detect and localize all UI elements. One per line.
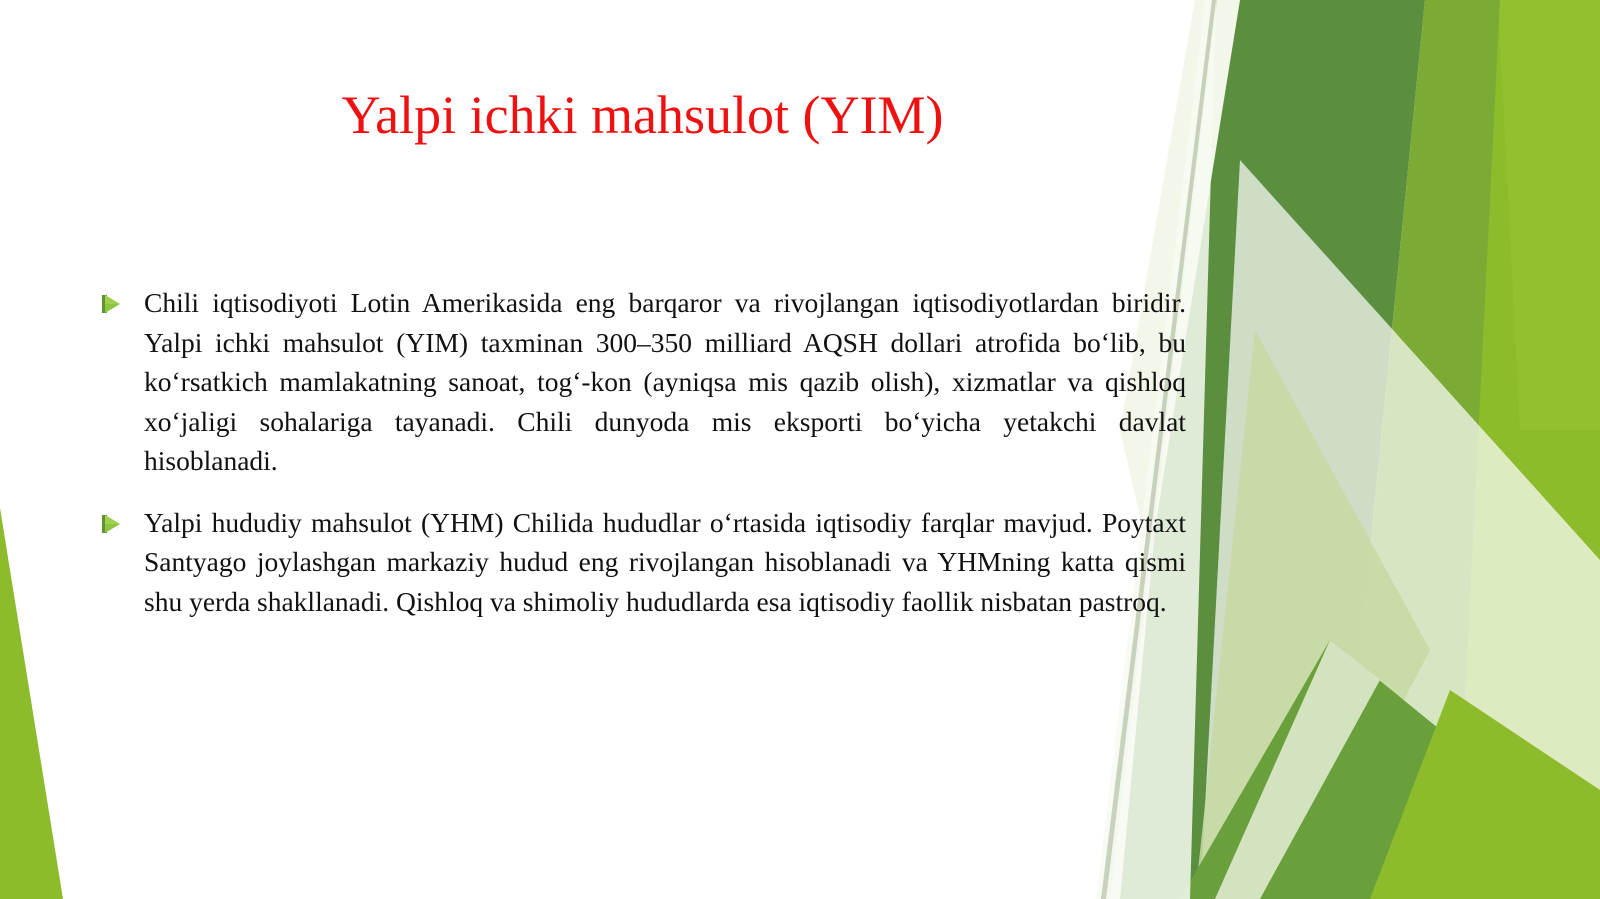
decor-shape-mid-green <box>1335 0 1500 899</box>
decor-shape-bright-right <box>1395 0 1600 899</box>
slide-body: Chili iqtisodiyoti Lotin Amerikasida eng… <box>96 283 1186 643</box>
decor-shape-lower-band-bright <box>1370 690 1600 899</box>
bullet-text: Chili iqtisodiyoti Lotin Amerikasida eng… <box>144 283 1186 481</box>
decor-shape-pale-diagonal <box>1215 640 1380 899</box>
decor-shape-lower-band <box>1180 640 1600 899</box>
bullet-item: Chili iqtisodiyoti Lotin Amerikasida eng… <box>96 283 1186 481</box>
bullet-item: Yalpi hududiy mahsulot (YHM) Chilida hud… <box>96 503 1186 622</box>
presentation-slide: Yalpi ichki mahsulot (YIM) Chili iqtisod… <box>0 0 1600 899</box>
slide-title: Yalpi ichki mahsulot (YIM) <box>0 86 1285 145</box>
green-triangle-bullet-icon <box>100 293 122 315</box>
decor-shape-pale-overlay <box>1200 160 1600 899</box>
green-triangle-bullet-icon <box>100 513 122 535</box>
decor-shape-left-wedge <box>0 508 63 899</box>
decor-shape-bright-accent <box>1498 0 1600 430</box>
decor-shape-pale-green-triangle <box>1195 330 1430 899</box>
bullet-text: Yalpi hududiy mahsulot (YHM) Chilida hud… <box>144 503 1186 622</box>
